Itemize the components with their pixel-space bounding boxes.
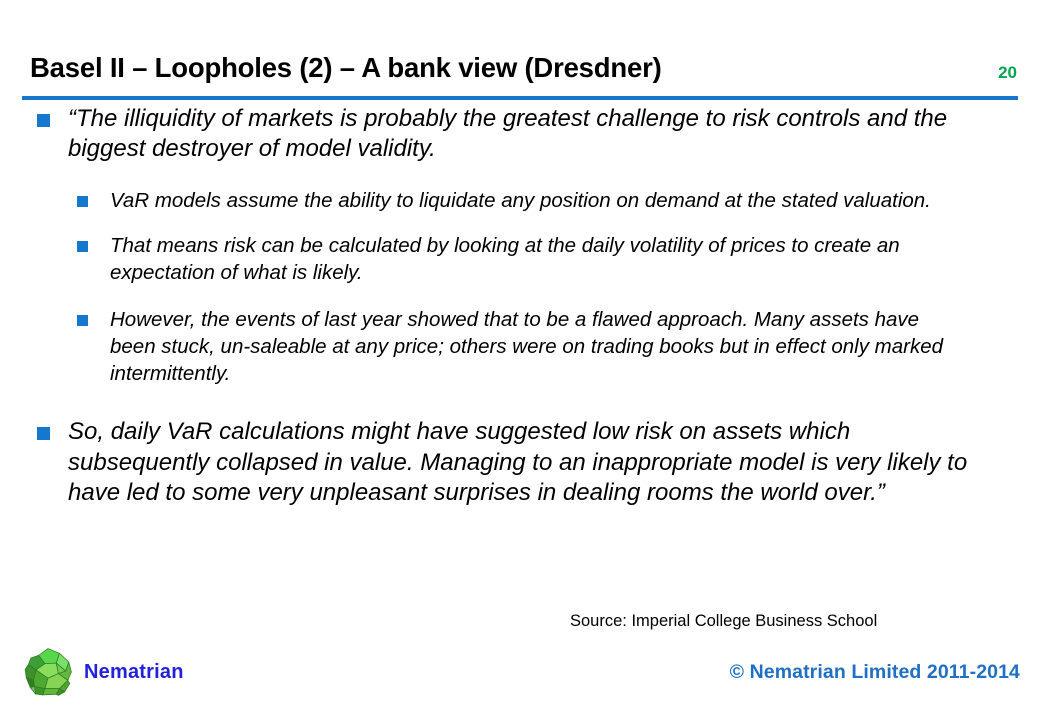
spacer xyxy=(0,287,1040,306)
sub-bullet-item: However, the events of last year showed … xyxy=(0,306,965,388)
bullet-text: “The illiquidity of markets is probably … xyxy=(68,104,968,165)
slide-footer: Nematrian © Nematrian Limited 2011-2014 xyxy=(0,642,1040,720)
source-attribution: Source: Imperial College Business School xyxy=(570,612,877,631)
bullet-square-icon xyxy=(37,427,50,440)
slide-header: Basel II – Loopholes (2) – A bank view (… xyxy=(0,0,1040,102)
slide-content: “The illiquidity of markets is probably … xyxy=(0,104,1040,509)
brand-logo[interactable]: Nematrian xyxy=(22,646,184,698)
slide-page-number: 20 xyxy=(998,63,1017,83)
copyright-notice: © Nematrian Limited 2011-2014 xyxy=(730,661,1020,684)
spacer xyxy=(0,165,1040,187)
spacer xyxy=(0,387,1040,417)
bullet-item: “The illiquidity of markets is probably … xyxy=(0,104,968,165)
brand-name: Nematrian xyxy=(84,661,184,684)
bullet-square-icon xyxy=(77,196,88,207)
bullet-item: So, daily VaR calculations might have su… xyxy=(0,417,968,508)
title-divider xyxy=(22,96,1018,100)
bullet-text: VaR models assume the ability to liquida… xyxy=(110,189,931,212)
bullet-text: However, the events of last year showed … xyxy=(110,308,943,386)
polyhedron-sphere-icon xyxy=(22,646,74,698)
bullet-square-icon xyxy=(77,315,88,326)
sub-bullet-item: VaR models assume the ability to liquida… xyxy=(0,187,965,214)
bullet-square-icon xyxy=(37,114,50,127)
page-title: Basel II – Loopholes (2) – A bank view (… xyxy=(30,52,662,84)
bullet-text: That means risk can be calculated by loo… xyxy=(110,234,900,284)
spacer xyxy=(0,214,1040,232)
bullet-text: So, daily VaR calculations might have su… xyxy=(68,417,968,508)
sub-bullet-item: That means risk can be calculated by loo… xyxy=(0,232,965,287)
bullet-square-icon xyxy=(77,241,88,252)
